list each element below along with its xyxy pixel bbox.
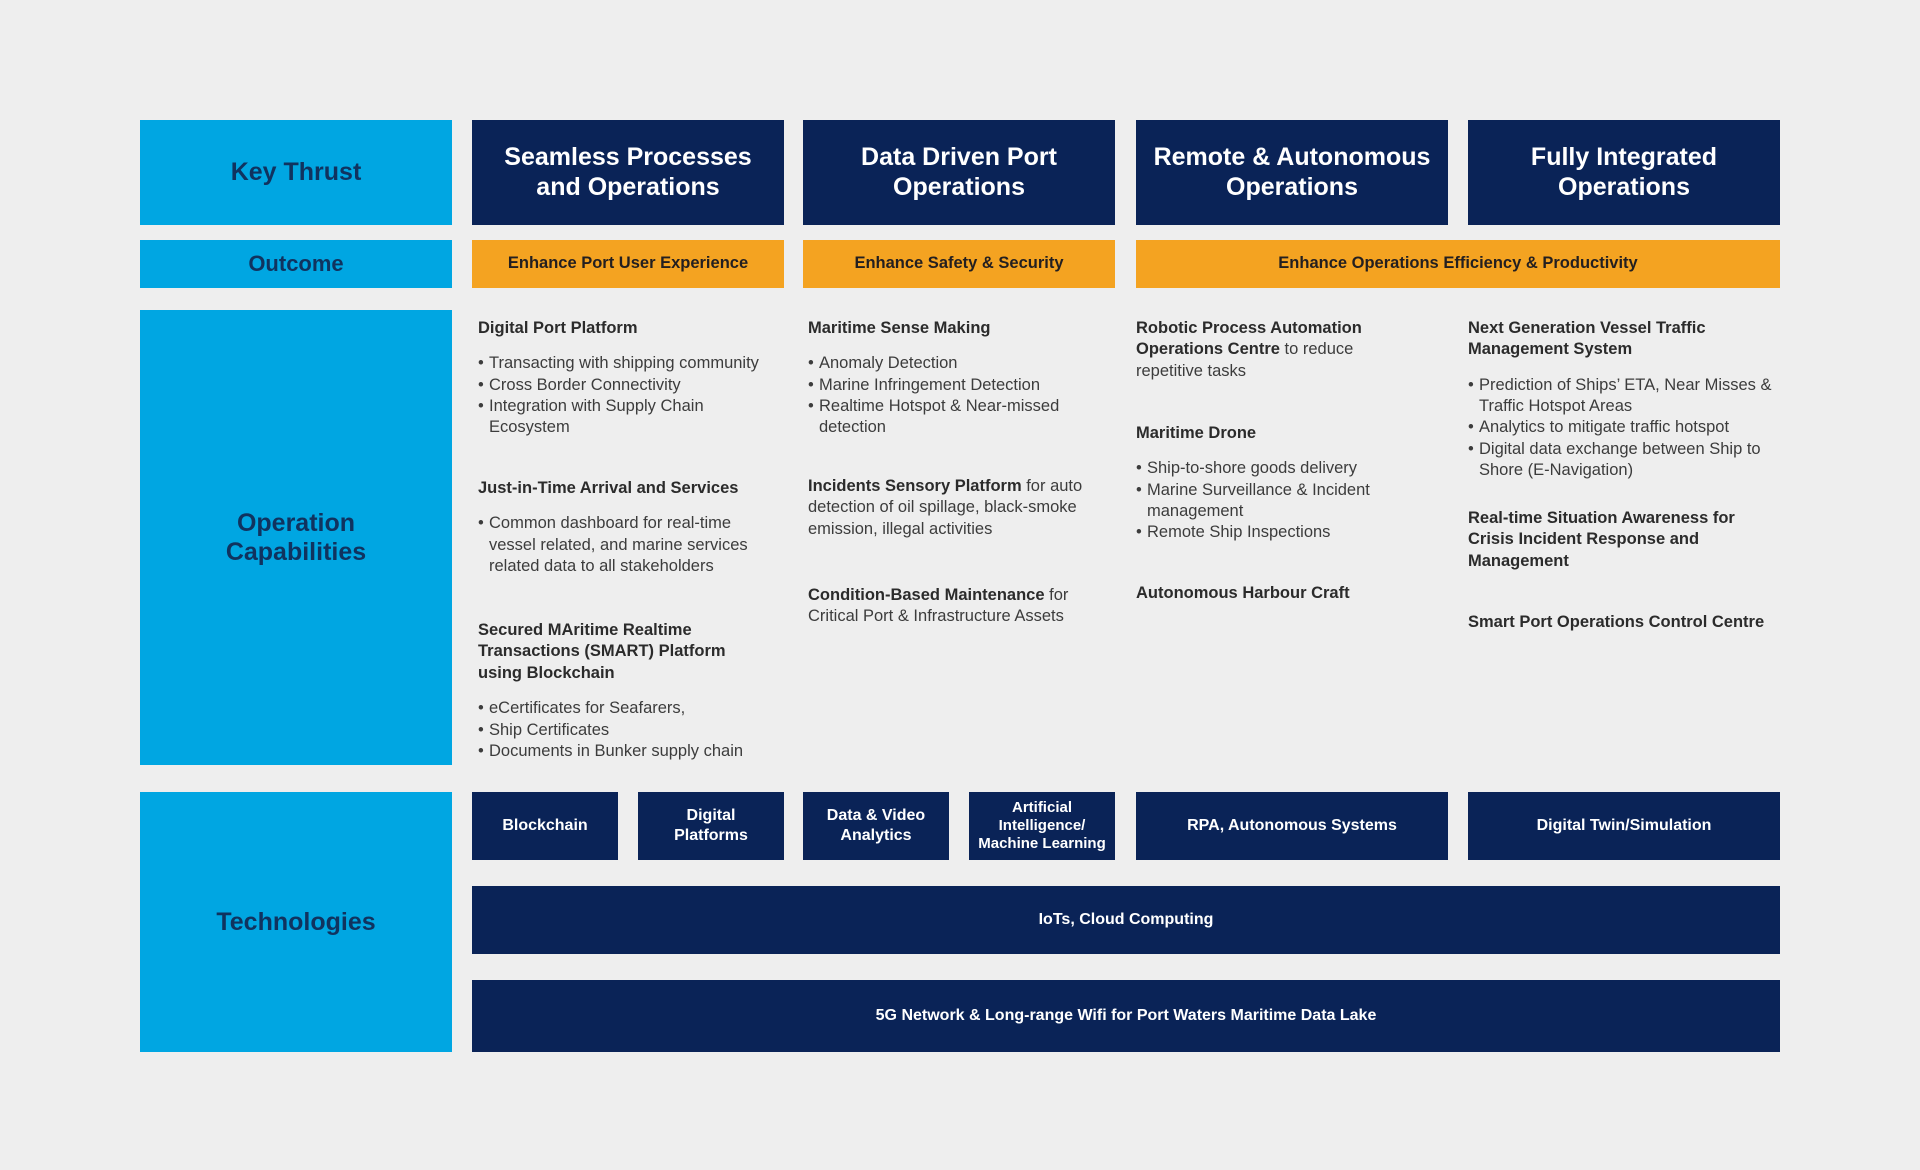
thrust-4-line2: Operations bbox=[1531, 173, 1717, 203]
outcome-card-2[interactable]: Enhance Safety & Security bbox=[803, 240, 1115, 288]
capability-bullets: eCertificates for Seafarers, Ship Certif… bbox=[478, 698, 768, 762]
thrust-2-line2: Operations bbox=[861, 173, 1057, 203]
capability-group-1-2: Just-in-Time Arrival and Services Common… bbox=[478, 478, 768, 577]
outcome-card-3[interactable]: Enhance Operations Efficiency & Producti… bbox=[1136, 240, 1780, 288]
list-item: Prediction of Ships’ ETA, Near Misses & … bbox=[1468, 375, 1780, 418]
thrust-1-line1: Seamless Processes bbox=[504, 143, 751, 173]
row-label-operation-capabilities: Operation Capabilities bbox=[140, 310, 452, 765]
capability-heading: Digital Port Platform bbox=[478, 318, 768, 339]
capability-paragraph: Condition-Based Maintenance for Critical… bbox=[808, 585, 1086, 628]
capability-group-4-3: Smart Port Operations Control Centre bbox=[1468, 612, 1780, 633]
technology-box-data-video-analytics[interactable]: Data & Video Analytics bbox=[803, 792, 949, 860]
capability-group-3-1: Robotic Process Automation Operations Ce… bbox=[1136, 318, 1386, 382]
capability-column-3: Robotic Process Automation Operations Ce… bbox=[1136, 318, 1386, 768]
capability-bullets: Transacting with shipping community Cros… bbox=[478, 353, 768, 438]
outcome-label-text: Outcome bbox=[248, 251, 343, 276]
capability-bullets: Prediction of Ships’ ETA, Near Misses & … bbox=[1468, 375, 1780, 481]
thrust-card-3[interactable]: Remote & Autonomous Operations bbox=[1136, 120, 1448, 225]
technology-label-line1: Artificial bbox=[978, 799, 1106, 817]
outcome-card-1[interactable]: Enhance Port User Experience bbox=[472, 240, 784, 288]
technology-box-rpa-autonomous-systems[interactable]: RPA, Autonomous Systems bbox=[1136, 792, 1448, 860]
list-item: Remote Ship Inspections bbox=[1136, 522, 1386, 543]
capability-group-1-3: Secured MAritime Realtime Transactions (… bbox=[478, 620, 768, 762]
list-item: Transacting with shipping community bbox=[478, 353, 768, 374]
technology-bar-5g-network[interactable]: 5G Network & Long-range Wifi for Port Wa… bbox=[472, 980, 1780, 1052]
thrust-card-2[interactable]: Data Driven Port Operations bbox=[803, 120, 1115, 225]
key-thrust-label-text: Key Thrust bbox=[231, 158, 362, 187]
capability-bullets: Common dashboard for real-time vessel re… bbox=[478, 513, 768, 577]
technology-label-line1: Blockchain bbox=[502, 816, 587, 836]
capability-group-3-2: Maritime Drone Ship-to-shore goods deliv… bbox=[1136, 423, 1386, 544]
capability-group-4-1: Next Generation Vessel Traffic Managemen… bbox=[1468, 318, 1780, 481]
thrust-2-line1: Data Driven Port bbox=[861, 143, 1057, 173]
technology-bar-iot-cloud[interactable]: IoTs, Cloud Computing bbox=[472, 886, 1780, 954]
technology-bar-label: 5G Network & Long-range Wifi for Port Wa… bbox=[868, 1006, 1385, 1026]
thrust-3-line2: Operations bbox=[1154, 173, 1431, 203]
capability-column-2: Maritime Sense Making Anomaly Detection … bbox=[808, 318, 1086, 768]
operation-capabilities-label-line1: Operation bbox=[226, 509, 366, 538]
capability-paragraph: Incidents Sensory Platform for auto dete… bbox=[808, 476, 1086, 540]
capability-column-1: Digital Port Platform Transacting with s… bbox=[478, 318, 768, 768]
outcome-2-label: Enhance Safety & Security bbox=[846, 254, 1071, 274]
technology-label-line2: Intelligence/ bbox=[978, 817, 1106, 835]
list-item: Common dashboard for real-time vessel re… bbox=[478, 513, 768, 577]
technology-box-blockchain[interactable]: Blockchain bbox=[472, 792, 618, 860]
capability-heading: Next Generation Vessel Traffic Managemen… bbox=[1468, 318, 1780, 361]
list-item: Digital data exchange between Ship to Sh… bbox=[1468, 439, 1780, 482]
capability-heading: Secured MAritime Realtime Transactions (… bbox=[478, 620, 768, 684]
capability-heading: Smart Port Operations Control Centre bbox=[1468, 612, 1780, 633]
technology-box-digital-platforms[interactable]: Digital Platforms bbox=[638, 792, 784, 860]
technology-box-digital-twin-simulation[interactable]: Digital Twin/Simulation bbox=[1468, 792, 1780, 860]
capability-column-4: Next Generation Vessel Traffic Managemen… bbox=[1468, 318, 1780, 768]
capability-paragraph: Robotic Process Automation Operations Ce… bbox=[1136, 318, 1386, 382]
technology-label-line1: RPA, Autonomous Systems bbox=[1187, 816, 1397, 836]
thrust-card-1[interactable]: Seamless Processes and Operations bbox=[472, 120, 784, 225]
capability-heading: Maritime Drone bbox=[1136, 423, 1386, 444]
thrust-1-line2: and Operations bbox=[504, 173, 751, 203]
list-item: Marine Surveillance & Incident managemen… bbox=[1136, 480, 1386, 523]
row-label-technologies: Technologies bbox=[140, 792, 452, 1052]
list-item: Documents in Bunker supply chain bbox=[478, 741, 768, 762]
capability-heading: Autonomous Harbour Craft bbox=[1136, 583, 1386, 604]
list-item: Cross Border Connectivity bbox=[478, 375, 768, 396]
list-item: Ship Certificates bbox=[478, 720, 768, 741]
list-item: Marine Infringement Detection bbox=[808, 375, 1086, 396]
outcome-1-label: Enhance Port User Experience bbox=[500, 254, 756, 274]
capability-heading: Just-in-Time Arrival and Services bbox=[478, 478, 768, 499]
row-label-outcome: Outcome bbox=[140, 240, 452, 288]
technology-bar-label: IoTs, Cloud Computing bbox=[1031, 910, 1222, 930]
technology-label-line1: Data & Video bbox=[827, 806, 925, 826]
capability-group-2-2: Incidents Sensory Platform for auto dete… bbox=[808, 476, 1086, 540]
list-item: Integration with Supply Chain Ecosystem bbox=[478, 396, 768, 439]
technology-label-line1: Digital bbox=[674, 806, 748, 826]
capability-bullets: Ship-to-shore goods delivery Marine Surv… bbox=[1136, 458, 1386, 543]
list-item: Analytics to mitigate traffic hotspot bbox=[1468, 417, 1780, 438]
technology-label-line2: Platforms bbox=[674, 826, 748, 846]
diagram-canvas: Key Thrust Seamless Processes and Operat… bbox=[0, 0, 1920, 1170]
technology-box-ai-ml[interactable]: Artificial Intelligence/ Machine Learnin… bbox=[969, 792, 1115, 860]
thrust-card-4[interactable]: Fully Integrated Operations bbox=[1468, 120, 1780, 225]
thrust-4-line1: Fully Integrated bbox=[1531, 143, 1717, 173]
capability-heading: Real-time Situation Awareness for Crisis… bbox=[1468, 508, 1780, 572]
capability-heading: Maritime Sense Making bbox=[808, 318, 1086, 339]
capability-group-3-3: Autonomous Harbour Craft bbox=[1136, 583, 1386, 604]
list-item: Ship-to-shore goods delivery bbox=[1136, 458, 1386, 479]
operation-capabilities-label-line2: Capabilities bbox=[226, 538, 366, 567]
list-item: eCertificates for Seafarers, bbox=[478, 698, 768, 719]
capability-group-1-1: Digital Port Platform Transacting with s… bbox=[478, 318, 768, 439]
technology-label-line3: Machine Learning bbox=[978, 835, 1106, 853]
capability-group-4-2: Real-time Situation Awareness for Crisis… bbox=[1468, 508, 1780, 572]
capability-heading: Incidents Sensory Platform bbox=[808, 477, 1022, 495]
thrust-3-line1: Remote & Autonomous bbox=[1154, 143, 1431, 173]
capability-group-2-1: Maritime Sense Making Anomaly Detection … bbox=[808, 318, 1086, 439]
technologies-label-text: Technologies bbox=[216, 908, 375, 937]
technology-label-line2: Analytics bbox=[827, 826, 925, 846]
capability-group-2-3: Condition-Based Maintenance for Critical… bbox=[808, 585, 1086, 628]
technology-label-line1: Digital Twin/Simulation bbox=[1537, 816, 1712, 836]
outcome-3-label: Enhance Operations Efficiency & Producti… bbox=[1270, 254, 1645, 274]
row-label-key-thrust: Key Thrust bbox=[140, 120, 452, 225]
list-item: Anomaly Detection bbox=[808, 353, 1086, 374]
capability-heading: Condition-Based Maintenance bbox=[808, 586, 1045, 604]
list-item: Realtime Hotspot & Near-missed detection bbox=[808, 396, 1086, 439]
capability-bullets: Anomaly Detection Marine Infringement De… bbox=[808, 353, 1086, 438]
